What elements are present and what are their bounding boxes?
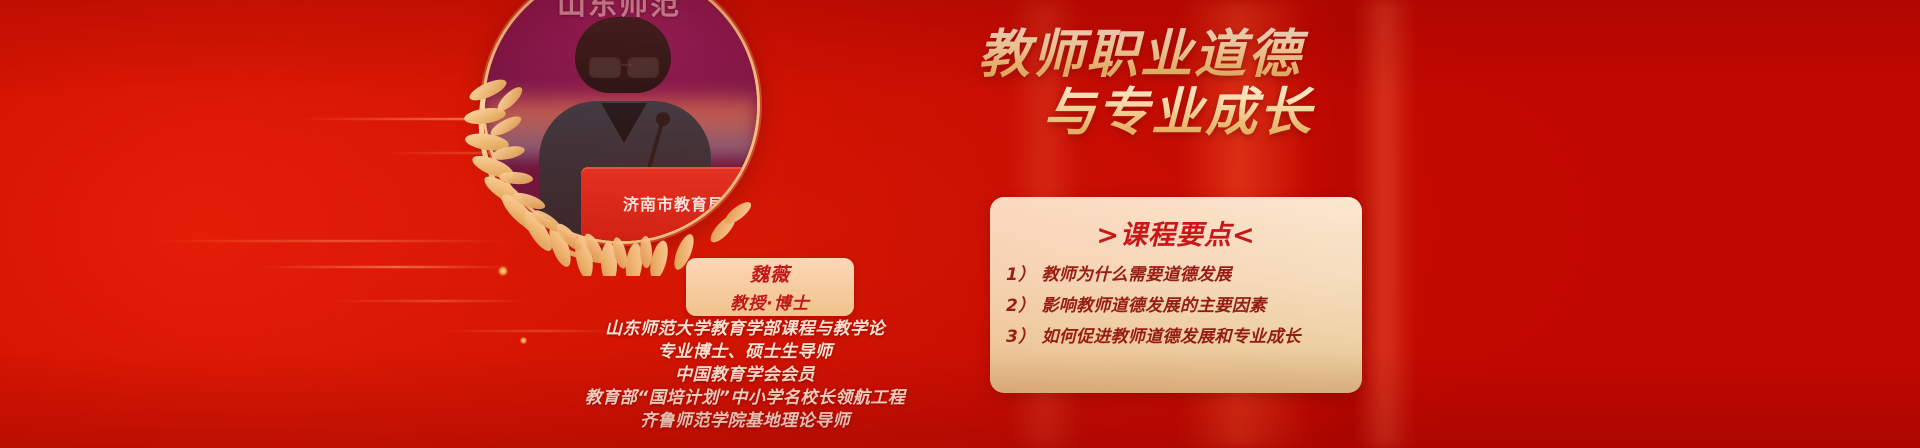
course-title: 教师职业道德 与专业成长	[978, 26, 1378, 142]
speaker-name: 魏薇	[750, 260, 790, 287]
course-points-list: 1） 教师为什么需要道德发展 2） 影响教师道德发展的主要因素 3） 如何促进教…	[990, 260, 1362, 348]
course-promo-banner: 山东师范 济南市教育局	[0, 0, 1920, 448]
point-text: 如何促进教师道德发展和专业成长	[1041, 326, 1348, 348]
list-item: 3） 如何促进教师道德发展和专业成长	[1006, 326, 1348, 348]
point-text: 教师为什么需要道德发展	[1041, 264, 1348, 286]
point-index: 2）	[1006, 295, 1035, 317]
laurel-wreath-icon	[452, 0, 762, 276]
speaker-title: 教授·博士	[730, 289, 809, 314]
speaker-medallion: 山东师范 济南市教育局	[452, 0, 762, 276]
list-item: 1） 教师为什么需要道德发展	[1006, 264, 1348, 286]
course-points-card: >课程要点< 1） 教师为什么需要道德发展 2） 影响教师道德发展的主要因素 3…	[990, 197, 1362, 393]
point-text: 影响教师道德发展的主要因素	[1041, 295, 1348, 317]
light-streak	[330, 300, 530, 302]
course-points-header: >课程要点<	[990, 197, 1362, 260]
point-index: 3）	[1006, 326, 1035, 348]
course-title-line2: 与专业成长	[978, 84, 1378, 142]
speaker-nameplate: 魏薇 教授·博士	[686, 258, 854, 316]
list-item: 2） 影响教师道德发展的主要因素	[1006, 295, 1348, 317]
course-info-column: 教师职业道德 与专业成长 >课程要点< 1） 教师为什么需要道德发展 2） 影响…	[962, 0, 1392, 448]
point-index: 1）	[1006, 264, 1035, 286]
course-title-line1: 教师职业道德	[978, 26, 1378, 84]
